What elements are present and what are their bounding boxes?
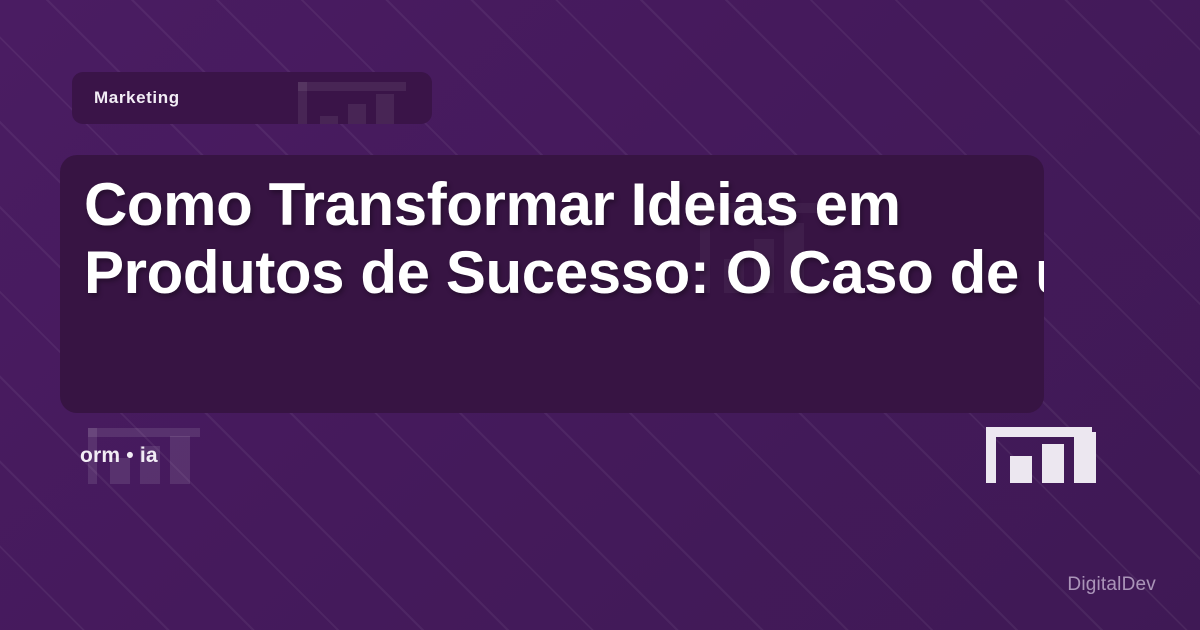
category-badge[interactable]: Marketing	[72, 72, 432, 124]
chart-axis-left	[986, 427, 996, 483]
chart-bar-3	[170, 436, 190, 484]
title-card: Como Transformar Ideias em Produtos de S…	[60, 155, 1044, 413]
brand-name-label: orm • ia	[80, 444, 158, 468]
chart-axis-top	[298, 82, 406, 91]
category-badge-label: Marketing	[94, 88, 180, 108]
bar-chart-icon	[986, 427, 1092, 483]
bar-chart-icon	[298, 82, 406, 124]
chart-bar-2	[1042, 444, 1064, 483]
brand-lockup: orm • ia	[80, 428, 158, 484]
chart-bar-1	[1010, 456, 1032, 483]
chart-bar-1	[320, 116, 338, 124]
page-title: Como Transformar Ideias em Produtos de S…	[84, 171, 1044, 308]
og-card: Marketing Como Transformar Ideias em Pro…	[0, 0, 1200, 630]
chart-bar-3	[376, 94, 394, 124]
chart-axis-left	[298, 82, 307, 124]
chart-bar-3	[1074, 432, 1096, 483]
chart-bar-2	[348, 104, 366, 124]
site-name-label: DigitalDev	[1067, 574, 1156, 596]
